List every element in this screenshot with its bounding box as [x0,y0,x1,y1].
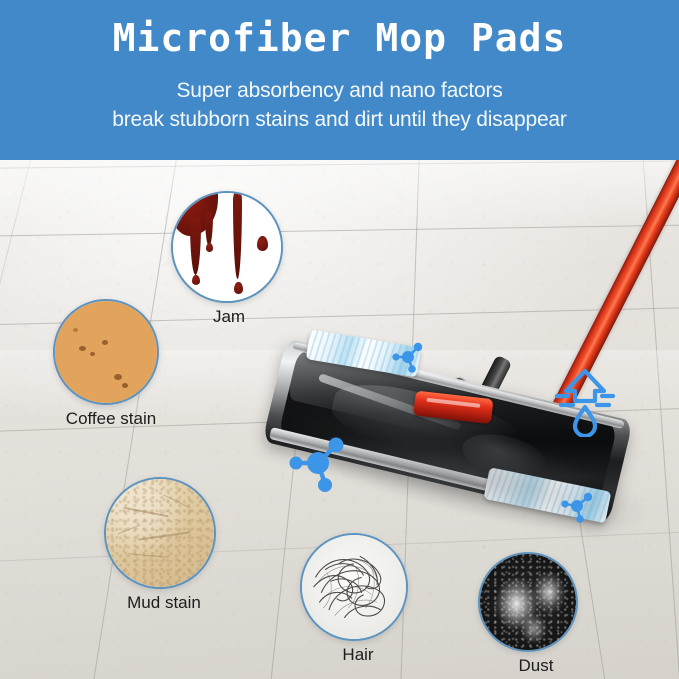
hair-icon [300,533,408,641]
jam-illustration [173,193,281,301]
callout-label-dust: Dust [519,656,554,676]
product-infographic: Jam Coffee stain Mud stain [0,0,679,679]
callout-jam[interactable]: Jam [171,191,287,331]
callout-dust[interactable]: Dust [478,552,594,679]
coffee-illustration [55,301,157,403]
header-banner: Microfiber Mop Pads Super absorbency and… [0,0,679,160]
coffee-speck [73,328,78,332]
callout-label-mud: Mud stain [127,593,201,613]
callout-coffee[interactable]: Coffee stain [53,299,169,439]
dust-icon [478,552,578,652]
jam-icon [171,191,283,303]
molecule-icon [287,432,349,494]
dust-particles [480,554,576,650]
callout-mud[interactable]: Mud stain [104,477,224,617]
callout-label-hair: Hair [342,645,373,665]
jam-drip [190,217,201,275]
callout-hair[interactable]: Hair [300,533,416,673]
absorbency-arrow-droplet-icon [549,361,621,437]
jam-droplet [206,243,213,252]
callout-label-coffee: Coffee stain [66,409,156,429]
molecule-icon [560,489,594,523]
hair-strands-icon [302,535,406,639]
header-subtitle-line2: break stubborn stains and dirt until the… [0,108,679,132]
coffee-speck [102,340,108,345]
page-title: Microfiber Mop Pads [0,18,679,60]
molecule-icon [391,340,425,374]
coffee-speck [122,383,128,388]
jam-drip [205,212,213,246]
jam-droplet [234,282,243,294]
coffee-speck [90,352,95,356]
mud-stain-icon [104,477,216,589]
jam-drip [233,191,242,279]
header-subtitle-line1: Super absorbency and nano factors [0,79,679,103]
jam-droplet [257,236,268,251]
callout-label-jam: Jam [213,307,245,327]
jam-droplet [192,275,200,285]
coffee-stain-icon [53,299,159,405]
mud-texture [106,479,214,587]
